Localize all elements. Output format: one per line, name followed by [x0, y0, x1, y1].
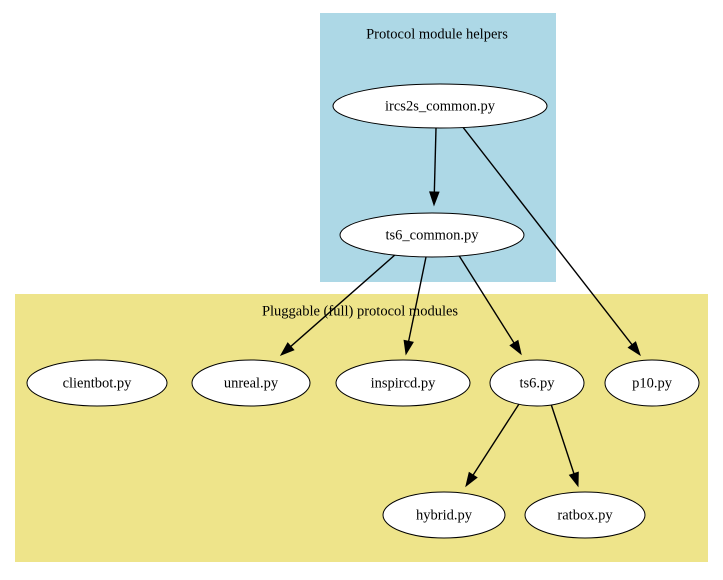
node-label-ratbox: ratbox.py [557, 507, 613, 523]
node-label-ts6_common: ts6_common.py [385, 227, 479, 243]
cluster-label-helpers: Protocol module helpers [366, 26, 508, 42]
cluster-label-pluggable: Pluggable (full) protocol modules [262, 303, 458, 319]
node-label-unreal: unreal.py [224, 375, 279, 391]
node-label-clientbot: clientbot.py [63, 375, 133, 391]
node-unreal[interactable]: unreal.py [192, 360, 310, 406]
node-ts6_common[interactable]: ts6_common.py [340, 213, 524, 257]
node-label-ircs2s_common: ircs2s_common.py [385, 98, 496, 114]
node-label-ts6: ts6.py [519, 375, 555, 391]
node-ts6[interactable]: ts6.py [490, 360, 584, 406]
node-p10[interactable]: p10.py [605, 360, 699, 406]
node-label-hybrid: hybrid.py [416, 507, 473, 523]
node-label-inspircd: inspircd.py [371, 375, 437, 391]
node-clientbot[interactable]: clientbot.py [27, 360, 167, 406]
node-hybrid[interactable]: hybrid.py [383, 492, 505, 538]
diagram-canvas: Protocol module helpersPluggable (full) … [0, 0, 723, 580]
node-ratbox[interactable]: ratbox.py [525, 492, 645, 538]
graph-svg: Protocol module helpersPluggable (full) … [0, 0, 723, 580]
node-label-p10: p10.py [632, 375, 673, 391]
node-inspircd[interactable]: inspircd.py [336, 360, 470, 406]
node-ircs2s_common[interactable]: ircs2s_common.py [333, 84, 547, 128]
